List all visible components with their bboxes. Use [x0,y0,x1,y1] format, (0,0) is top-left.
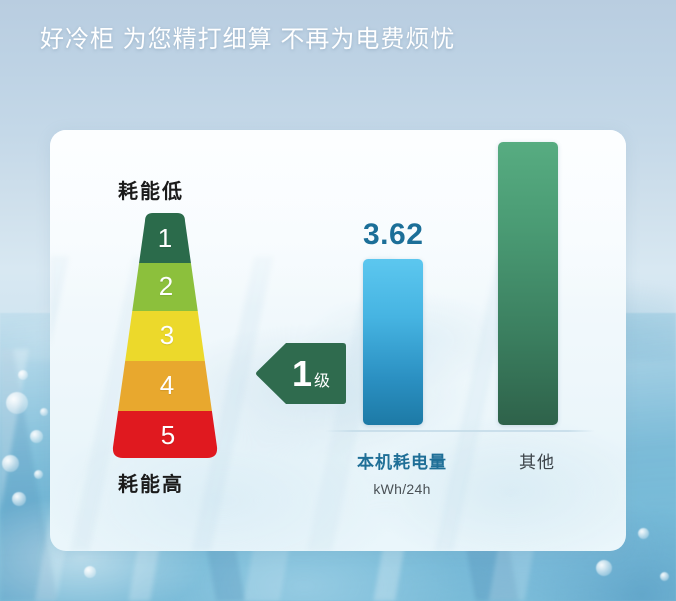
consumption-bar-chart: 3.62 本机耗电量 kWh/24h 其他 [325,170,595,515]
energy-high-label: 耗能高 [105,468,310,497]
bokeh-bubble [18,370,28,380]
bokeh-bubble [638,528,649,539]
energy-info-card: 耗能低 1 2 [50,130,626,551]
caption-other: 其他 [472,448,602,473]
bokeh-bubble [596,560,612,576]
bar-other [498,142,558,425]
energy-low-label: 耗能低 [105,175,310,204]
bokeh-bubble [6,392,28,414]
grade-badge-number: 1 [292,356,312,392]
bokeh-bubble [30,430,43,443]
pyramid-segment-1 [105,211,310,263]
page-title: 好冷柜 为您精打细算 不再为电费烦忧 [40,19,455,54]
pyramid-segment-2 [105,263,310,311]
energy-grade-pyramid: 耗能低 1 2 [105,175,310,497]
pyramid-level-5: 5 [148,422,188,448]
pyramid-level-4: 4 [147,372,187,398]
caption-other-name: 其他 [472,448,602,473]
page-root: 好冷柜 为您精打细算 不再为电费烦忧 耗能低 [0,0,676,601]
pyramid-svg [105,211,310,460]
bokeh-bubble [2,455,19,472]
bar-value-self: 3.62 [363,218,423,252]
bokeh-bubble [34,470,43,479]
pyramid-segment-5 [105,411,310,460]
caption-self-unit: kWh/24h [337,481,467,497]
bokeh-bubble [40,408,48,416]
bokeh-bubble [84,566,96,578]
caption-self: 本机耗电量 kWh/24h [337,448,467,497]
pyramid-level-3: 3 [147,322,187,348]
caption-self-name: 本机耗电量 [337,448,467,473]
bar-self [363,259,423,425]
bokeh-bubble [12,492,26,506]
pyramid-level-1: 1 [145,225,185,251]
pyramid-graphic: 1 2 3 4 5 [105,211,310,460]
bokeh-bubble [660,572,669,581]
pyramid-level-2: 2 [146,273,186,299]
